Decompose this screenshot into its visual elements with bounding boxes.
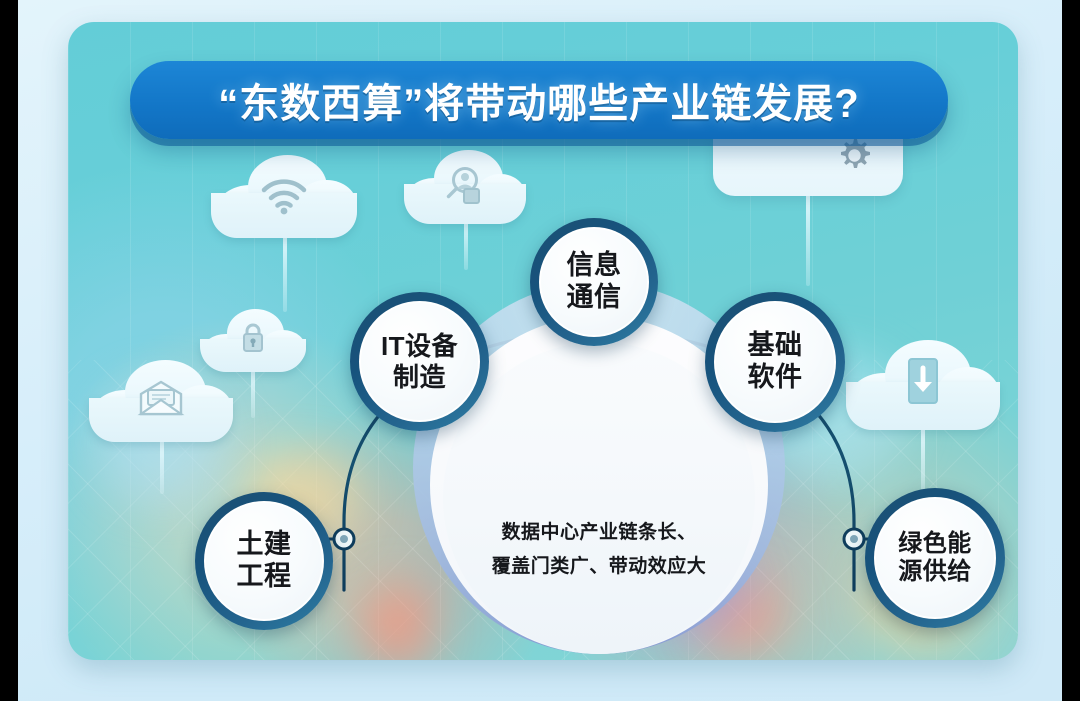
node-label-it-equipment: IT设备 制造 <box>381 331 458 392</box>
central-dome: 数据中心产业链条长、覆盖门类广、带动效应大 <box>413 454 785 654</box>
node-label-info-comm: 信息 通信 <box>567 250 622 314</box>
page-title: “东数西算”将带动哪些产业链发展? <box>218 71 859 129</box>
node-label-basic-software: 基础 软件 <box>748 330 803 394</box>
dome-caption: 数据中心产业链条长、覆盖门类广、带动效应大 <box>433 516 765 584</box>
dome-inner-face <box>443 342 755 654</box>
title-banner: “东数西算”将带动哪些产业链发展? <box>130 61 948 139</box>
dome-caption-line-1: 数据中心产业链条长、 <box>501 522 696 543</box>
node-info-comm[interactable]: 信息 通信 <box>530 218 658 346</box>
node-civil-works[interactable]: 土建 工程 <box>195 492 333 630</box>
node-it-equipment[interactable]: IT设备 制造 <box>350 292 489 431</box>
node-basic-software[interactable]: 基础 软件 <box>705 292 845 432</box>
left-black-bar <box>0 0 18 701</box>
infographic-card: 数据中心产业链条长、覆盖门类广、带动效应大 IT设备 制造 信息 通信 基础 软… <box>68 22 1018 660</box>
infographic-root: 数据中心产业链条长、覆盖门类广、带动效应大 IT设备 制造 信息 通信 基础 软… <box>0 0 1080 701</box>
node-inner-face: 绿色能 源供给 <box>874 497 996 619</box>
node-inner-face: 信息 通信 <box>539 227 649 337</box>
node-inner-face: 基础 软件 <box>714 301 836 423</box>
node-inner-face: 土建 工程 <box>204 501 324 621</box>
node-inner-face: IT设备 制造 <box>359 301 480 422</box>
dome-caption-line-2: 覆盖门类广、带动效应大 <box>492 556 707 577</box>
node-label-civil-works: 土建 工程 <box>237 529 292 593</box>
right-black-bar <box>1062 0 1080 701</box>
node-green-energy[interactable]: 绿色能 源供给 <box>865 488 1005 628</box>
node-label-green-energy: 绿色能 源供给 <box>898 530 972 587</box>
